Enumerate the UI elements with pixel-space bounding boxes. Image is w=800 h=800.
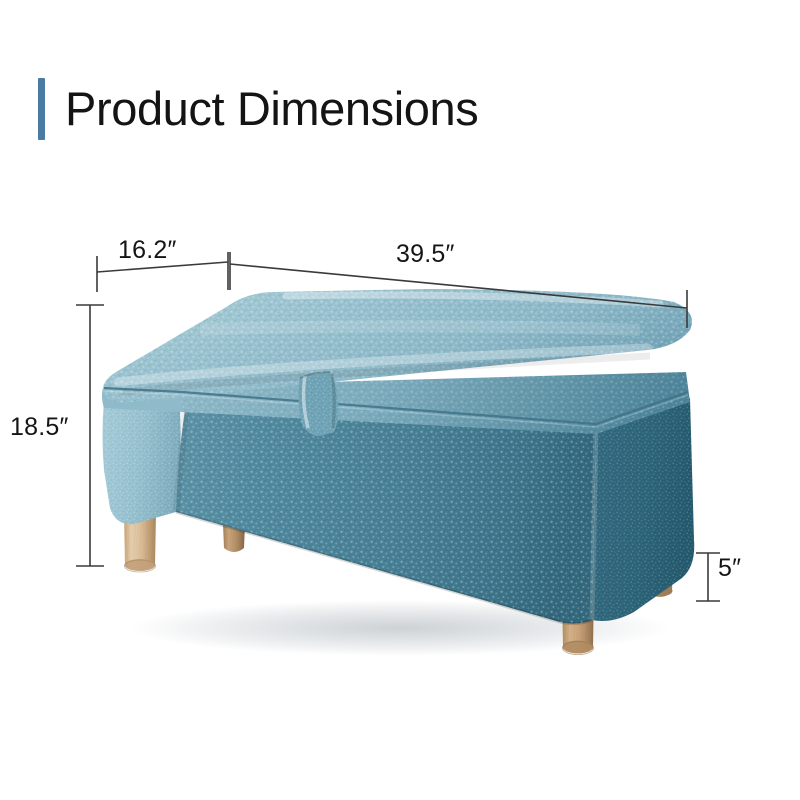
storage-bench-illustration (0, 0, 800, 800)
product-dimensions-figure: Product Dimensions (0, 0, 800, 800)
storage-bench-svg (0, 0, 800, 800)
pull-tab[interactable] (298, 372, 338, 436)
